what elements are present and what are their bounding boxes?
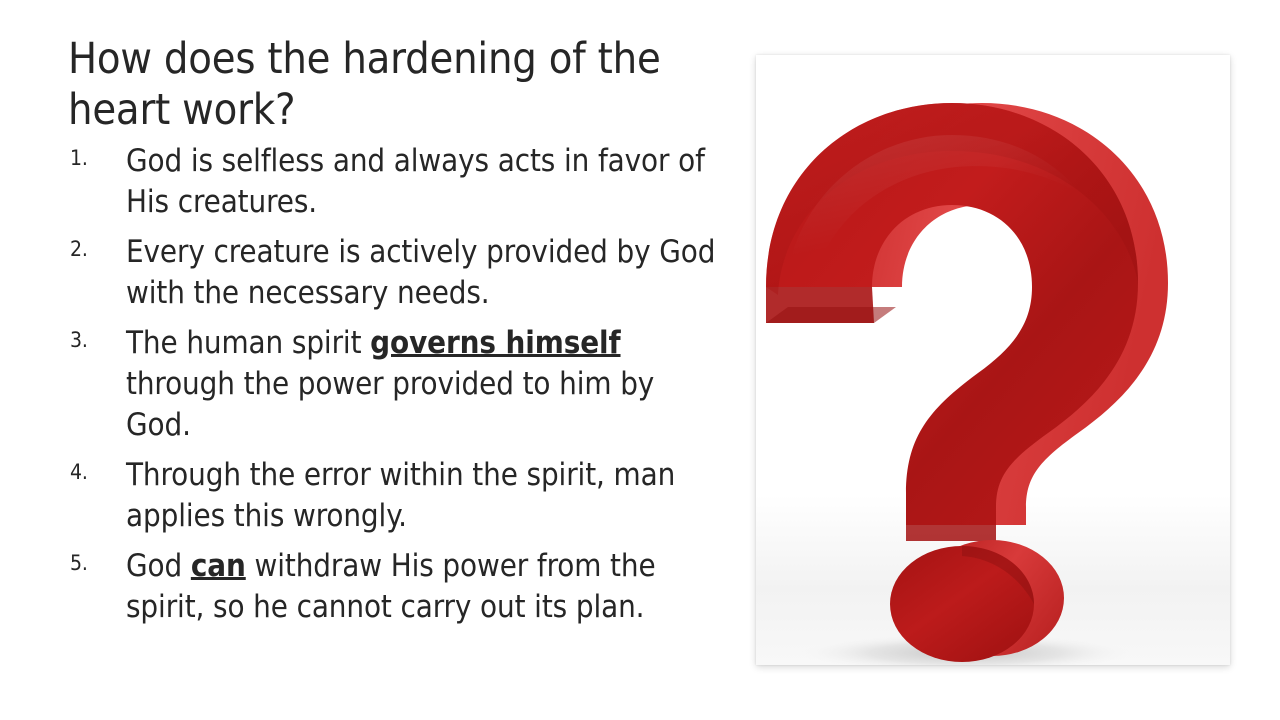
- slide: How does the hardening of the heart work…: [0, 0, 1280, 720]
- list-item-text: The human spirit governs himself through…: [126, 325, 654, 443]
- list-item-text: God can withdraw His power from the spir…: [126, 548, 656, 625]
- emphasized-text: can: [191, 548, 246, 584]
- question-mark-icon: [756, 55, 1230, 665]
- question-mark-front: [766, 103, 1138, 541]
- text-segment: through the power provided to him by God…: [126, 366, 654, 443]
- text-segment: God: [126, 548, 191, 584]
- list-item-number: 1.: [70, 148, 108, 169]
- emphasized-text: governs himself: [370, 325, 620, 361]
- text-segment: Through the error within the spirit, man…: [126, 457, 675, 534]
- tail-bevel: [766, 307, 896, 323]
- question-mark-image: [756, 55, 1230, 665]
- list-item-number: 2.: [70, 239, 108, 260]
- picture-frame: [756, 55, 1230, 665]
- content-column: How does the hardening of the heart work…: [68, 34, 716, 636]
- text-segment: Every creature is actively provided by G…: [126, 234, 715, 311]
- list-item-text: Through the error within the spirit, man…: [126, 457, 675, 534]
- text-segment: The human spirit: [126, 325, 370, 361]
- stem-bottom-cut: [906, 525, 996, 541]
- list-item-number: 4.: [70, 462, 108, 483]
- list-item-text: Every creature is actively provided by G…: [126, 234, 715, 311]
- list-item: 1. God is selfless and always acts in fa…: [68, 141, 716, 223]
- list-item-number: 5.: [70, 553, 108, 574]
- list-item-text: God is selfless and always acts in favor…: [126, 143, 705, 220]
- numbered-list: 1. God is selfless and always acts in fa…: [68, 141, 716, 627]
- list-item-number: 3.: [70, 330, 108, 351]
- page-title: How does the hardening of the heart work…: [68, 34, 716, 135]
- list-item: 3. The human spirit governs himself thro…: [68, 323, 716, 446]
- list-item: 4. Through the error within the spirit, …: [68, 455, 716, 537]
- text-segment: God is selfless and always acts in favor…: [126, 143, 705, 220]
- list-item: 5. God can withdraw His power from the s…: [68, 546, 716, 628]
- list-item: 2. Every creature is actively provided b…: [68, 232, 716, 314]
